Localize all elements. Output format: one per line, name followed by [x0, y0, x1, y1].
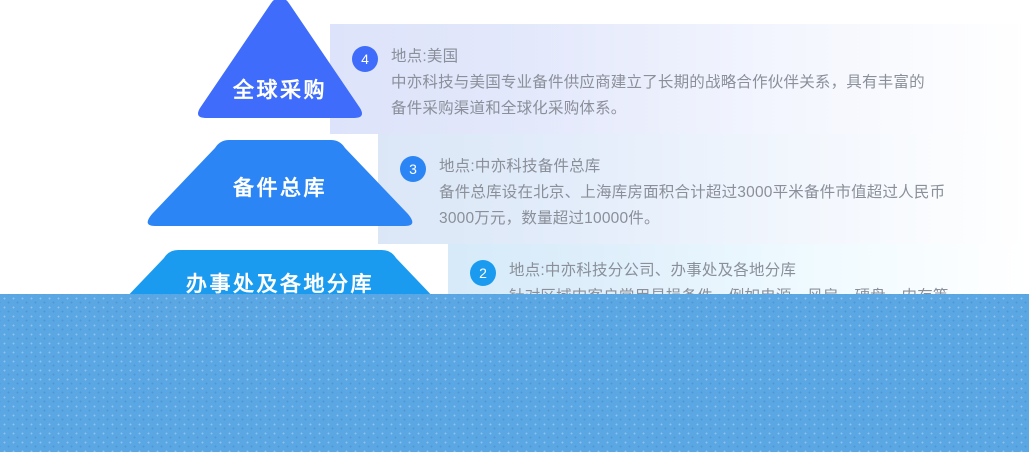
tier-panel-4: 4 地点:美国 中亦科技与美国专业备件供应商建立了长期的战略合作伙伴关系，具有丰…	[330, 24, 1029, 134]
tier-panel-3-content: 3 地点:中亦科技备件总库 备件总库设在北京、上海库房面积合计超过3000平米备…	[400, 154, 945, 232]
tier-panel-4-content: 4 地点:美国 中亦科技与美国专业备件供应商建立了长期的战略合作伙伴关系，具有丰…	[352, 44, 925, 122]
tier-location-4: 地点:美国	[391, 44, 925, 70]
foreground-blue-overlay	[0, 294, 1029, 452]
pyramid-tier-3-label: 备件总库	[139, 172, 421, 202]
pyramid-tier-4-shape	[190, 0, 370, 126]
tier-body-line-3-2: 3000万元，数量超过10000件。	[439, 206, 945, 232]
tier-body-line-3-1: 备件总库设在北京、上海库房面积合计超过3000平米备件市值超过人民币	[439, 180, 945, 206]
tier-body-line-4-2: 备件采购渠道和全球化采购体系。	[391, 96, 925, 122]
tier-location-3: 地点:中亦科技备件总库	[439, 154, 945, 180]
pyramid-tier-4-label: 全球采购	[190, 74, 370, 104]
tier-text-3: 地点:中亦科技备件总库 备件总库设在北京、上海库房面积合计超过3000平米备件市…	[439, 154, 945, 232]
tier-text-4: 地点:美国 中亦科技与美国专业备件供应商建立了长期的战略合作伙伴关系，具有丰富的…	[391, 44, 925, 122]
pyramid-diagram: 4 地点:美国 中亦科技与美国专业备件供应商建立了长期的战略合作伙伴关系，具有丰…	[0, 0, 1029, 452]
tier-location-2: 地点:中亦科技分公司、办事处及各地分库	[509, 258, 949, 284]
tier-panel-3: 3 地点:中亦科技备件总库 备件总库设在北京、上海库房面积合计超过3000平米备…	[378, 134, 1029, 244]
tier-badge-2: 2	[470, 260, 496, 286]
tier-badge-4: 4	[352, 46, 378, 72]
tier-body-line-4-1: 中亦科技与美国专业备件供应商建立了长期的战略合作伙伴关系，具有丰富的	[391, 70, 925, 96]
